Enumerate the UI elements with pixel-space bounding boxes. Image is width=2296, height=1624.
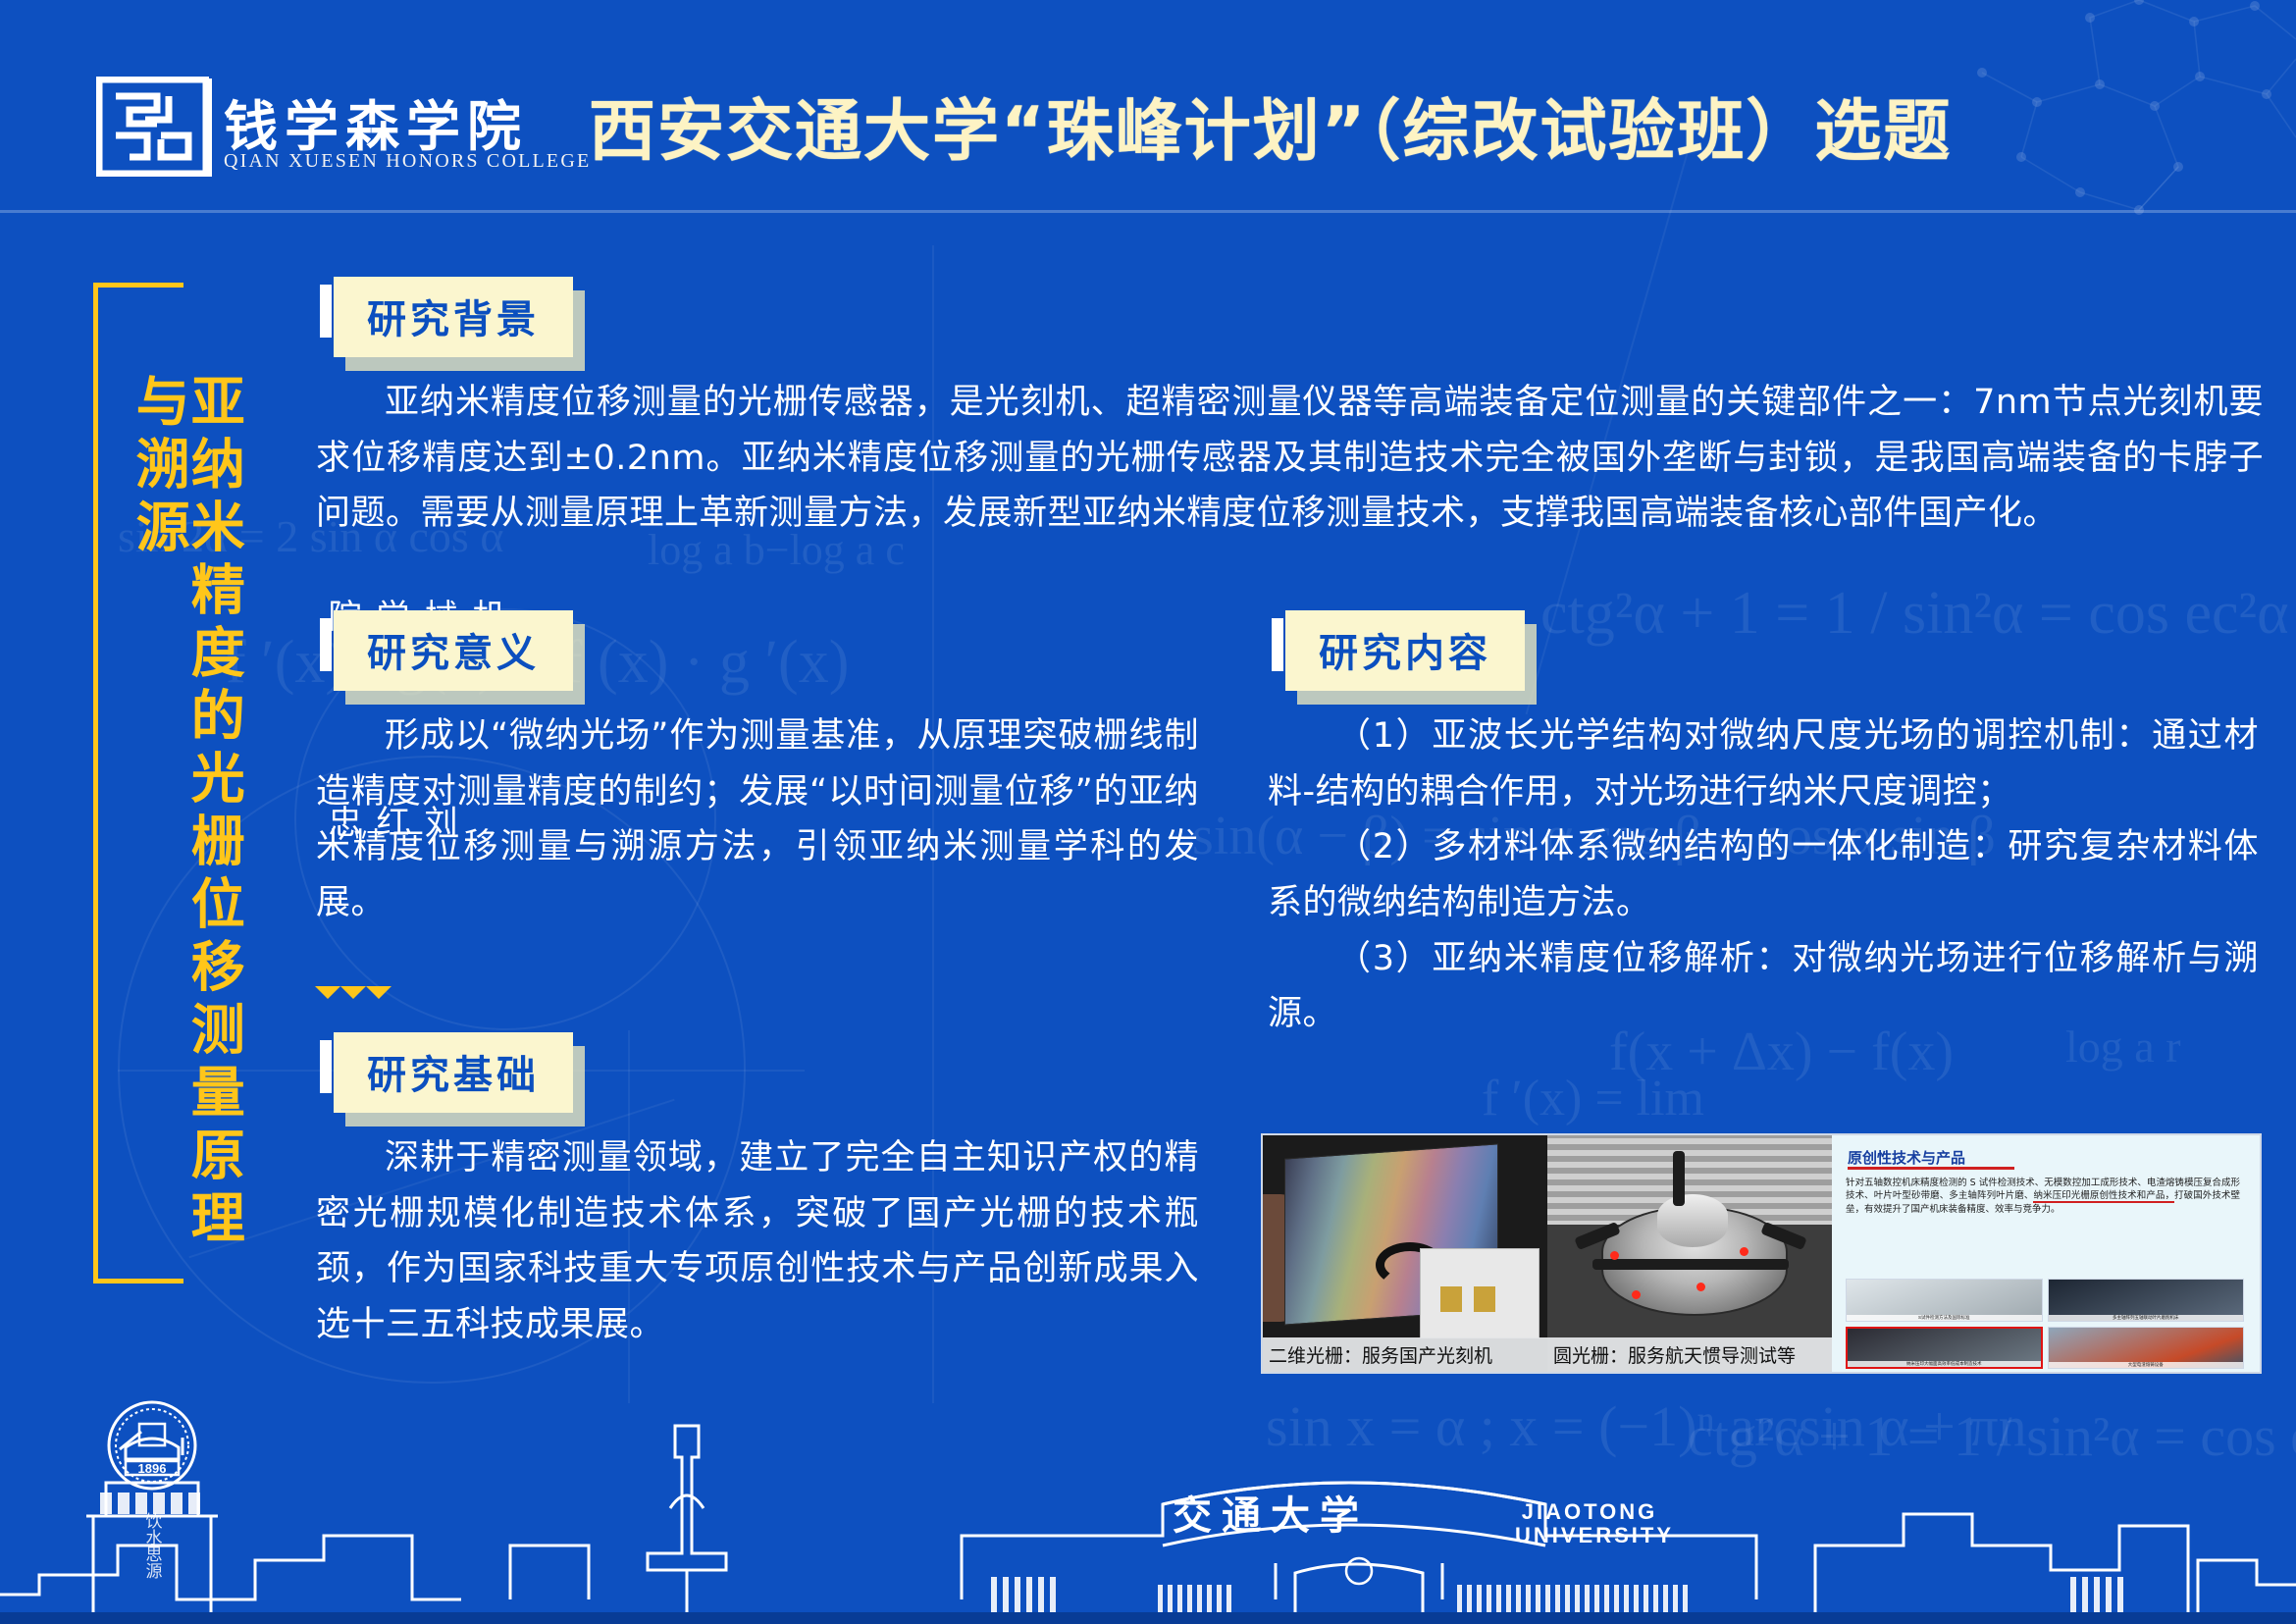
photo-strip: 二维光栅：服务国产光刻机 圆光栅：服务航天惯导测试等 原创性技术与产品 (1261, 1133, 2262, 1374)
campus-skyline-illustration: 1896 饮水思源 交通大学 JIAOTONG UNIVERSITY (0, 1398, 2296, 1624)
photo-caption: 二维光栅：服务国产光刻机 (1263, 1337, 1547, 1372)
doc-thumbnail-highlighted: 纳米压印大幅面高效率低成本制造技术 (1846, 1327, 2043, 1370)
chevron-down-icon (315, 986, 391, 1006)
section-heading-significance: 研究意义 (334, 610, 573, 691)
chip-accent-bar (320, 618, 332, 671)
gate-name-en-line2: UNIVERSITY (1515, 1523, 1674, 1547)
chip-accent-bar (320, 1040, 332, 1093)
watermark-formula: ctg²α + 1 = 1 / sin²α = cos ec²α (1540, 579, 2289, 649)
doc-thumbnail-caption: 纳米压印大幅面高效率低成本制造技术 (1848, 1361, 2041, 1367)
college-name-en: QIAN XUESEN HONORS COLLEGE (224, 150, 591, 173)
monument-inscription: 饮水思源 (143, 1512, 163, 1580)
chip-accent-bar (320, 285, 332, 338)
content-item: （1）亚波长光学结构对微纳尺度光场的调控机制：通过材料-结构的耦合作用，对光场进… (1268, 708, 2259, 819)
content-list: （1）亚波长光学结构对微纳尺度光场的调控机制：通过材料-结构的耦合作用，对光场进… (1268, 708, 2259, 1042)
college-name-cn: 钱学森学院 (224, 82, 528, 161)
background-paragraph: 亚纳米精度位移测量的光栅传感器，是光刻机、超精密测量仪器等高端装备定位测量的关键… (316, 375, 2264, 542)
photo-achievement-panel: 原创性技术与产品 针对五轴数控机床精度检测的 S 试件检测技术、无模数控加工成形… (1832, 1135, 2260, 1372)
poster-root: sin 2α = 2 sin α cos α log a b−log a c f… (0, 0, 2296, 1624)
doc-thumbnail-caption: S试件检测方法及国际标准 (1847, 1315, 2042, 1321)
gate-name-cn: 交通大学 (1173, 1493, 1369, 1538)
section-title: 研究意义 (367, 621, 540, 678)
significance-paragraph: 形成以“微纳光场”作为测量基准，从原理突破栅线制造精度对测量精度的制约；发展“以… (316, 708, 1199, 931)
watermark-formula: f ′(x) = lim (1482, 1070, 1704, 1127)
doc-title-underline (1848, 1167, 2014, 1170)
xjtu-emblem-icon: 1896 (109, 1402, 195, 1489)
qian-xuesen-seal-icon (96, 77, 209, 177)
section-heading-background: 研究背景 (334, 277, 573, 357)
significance-text: 形成以“微纳光场”作为测量基准，从原理突破栅线制造精度对测量精度的制约；发展“以… (316, 708, 1199, 931)
doc-panel-title: 原创性技术与产品 (1848, 1147, 1965, 1168)
photo-2d-grating: 二维光栅：服务国产光刻机 (1263, 1135, 1547, 1372)
doc-thumbnail-caption: 大型电渣熔铸设备 (2049, 1362, 2244, 1368)
grating-photo-image (1263, 1135, 1547, 1372)
doc-panel-body: 针对五轴数控机床精度检测的 S 试件检测技术、无模数控加工成形技术、电渣熔铸模压… (1846, 1177, 2240, 1216)
photo-circular-grating: 圆光栅：服务航天惯导测试等 (1547, 1135, 1832, 1372)
content-item: （2）多材料体系微纳结构的一体化制造：研究复杂材料体系的微纳结构制造方法。 (1268, 819, 2259, 930)
achievement-page-image: 原创性技术与产品 针对五轴数控机床精度检测的 S 试件检测技术、无模数控加工成形… (1832, 1135, 2260, 1372)
logo-divider (206, 79, 212, 177)
content-item: （3）亚纳米精度位移解析：对微纳光场进行位移解析与溯源。 (1268, 931, 2259, 1042)
photo-caption: 圆光栅：服务航天惯导测试等 (1547, 1337, 1832, 1372)
poster-header: 钱学森学院 QIAN XUESEN HONORS COLLEGE 西安交通大学“… (0, 0, 2296, 211)
section-title: 研究背景 (367, 288, 540, 344)
section-title: 研究基础 (367, 1043, 540, 1100)
foundation-paragraph: 深耕于精密测量领域，建立了完全自主知识产权的精密光栅规模化制造技术体系，突破了国… (316, 1130, 1199, 1353)
doc-thumbnail: 大型电渣熔铸设备 (2048, 1327, 2245, 1370)
gate-name-en-line1: JIAOTONG (1522, 1499, 1658, 1524)
page-title: 西安交通大学“珠峰计划”（综改试验班）选题 (589, 77, 1952, 174)
doc-thumbnail: 多主轴阵列五轴联动叶片磨削机床 (2048, 1279, 2245, 1322)
foundation-text: 深耕于精密测量领域，建立了完全自主知识产权的精密光栅规模化制造技术体系，突破了国… (316, 1130, 1199, 1353)
project-title: 亚纳米精度的光栅位移测量原理与溯源 (130, 373, 240, 1305)
chip-accent-bar (1272, 618, 1283, 671)
doc-body-highlight: 纳米压印光栅原创性技术和产品， (2033, 1190, 2174, 1203)
section-title: 研究内容 (1319, 621, 1491, 678)
doc-thumbnail-grid: S试件检测方法及国际标准 多主轴阵列五轴联动叶片磨削机床 纳米压印大幅面高效率低… (1846, 1279, 2244, 1369)
emblem-year: 1896 (138, 1461, 167, 1476)
bottom-bar (0, 1612, 2296, 1624)
machine-photo-image (1547, 1135, 1832, 1372)
doc-thumbnail: S试件检测方法及国际标准 (1846, 1279, 2043, 1322)
section-heading-content: 研究内容 (1285, 610, 1525, 691)
project-title-strip: 亚纳米精度的光栅位移测量原理与溯源 机械学院 刘红忠 (93, 265, 294, 1305)
section-heading-foundation: 研究基础 (334, 1032, 573, 1113)
doc-thumbnail-caption: 多主轴阵列五轴联动叶片磨削机床 (2049, 1315, 2244, 1321)
background-text: 亚纳米精度位移测量的光栅传感器，是光刻机、超精密测量仪器等高端装备定位测量的关键… (316, 375, 2264, 542)
gate-emblem-icon (1346, 1558, 1372, 1584)
header-divider (0, 210, 2296, 213)
